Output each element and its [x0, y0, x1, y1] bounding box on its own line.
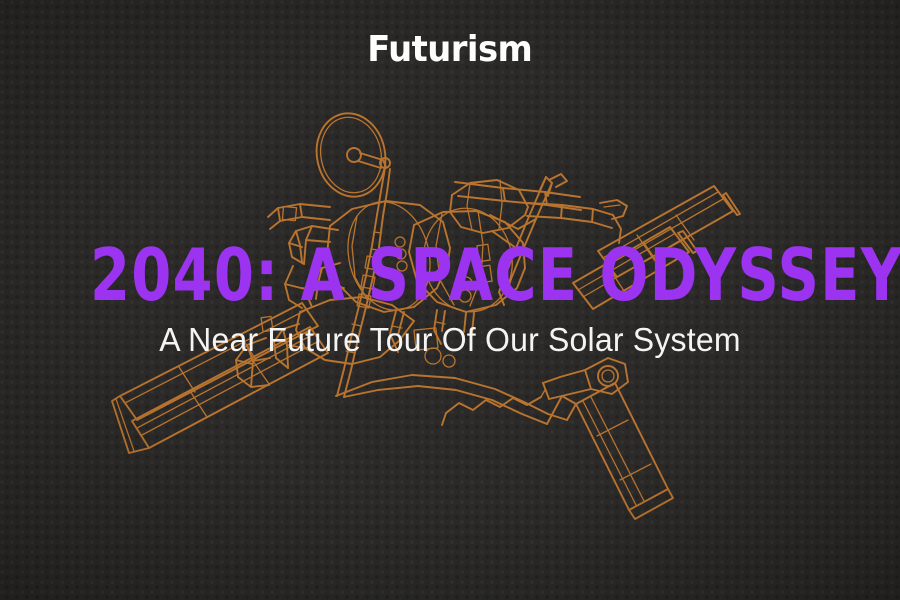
radiator-zigzag-group	[442, 390, 545, 425]
brand-logo[interactable]: Futurism	[0, 30, 900, 70]
hero-headline-block: 2040: A SPACE ODYSSEY A Near Future Tour…	[0, 238, 900, 360]
truss-boom-left-group	[268, 204, 330, 229]
node-module-group	[450, 180, 528, 233]
satellite-dish-group	[309, 107, 393, 216]
poster-canvas: Futurism 2040: A SPACE ODYSSEY A Near Fu…	[0, 0, 900, 600]
brand-logo-text: Futurism	[368, 30, 533, 70]
lower-truss-group	[336, 375, 576, 424]
docking-port-group	[543, 358, 628, 399]
page-title: 2040: A SPACE ODYSSEY	[90, 238, 810, 312]
page-subtitle: A Near Future Tour Of Our Solar System	[14, 320, 887, 360]
solar-array-lower-right-group	[562, 383, 673, 519]
